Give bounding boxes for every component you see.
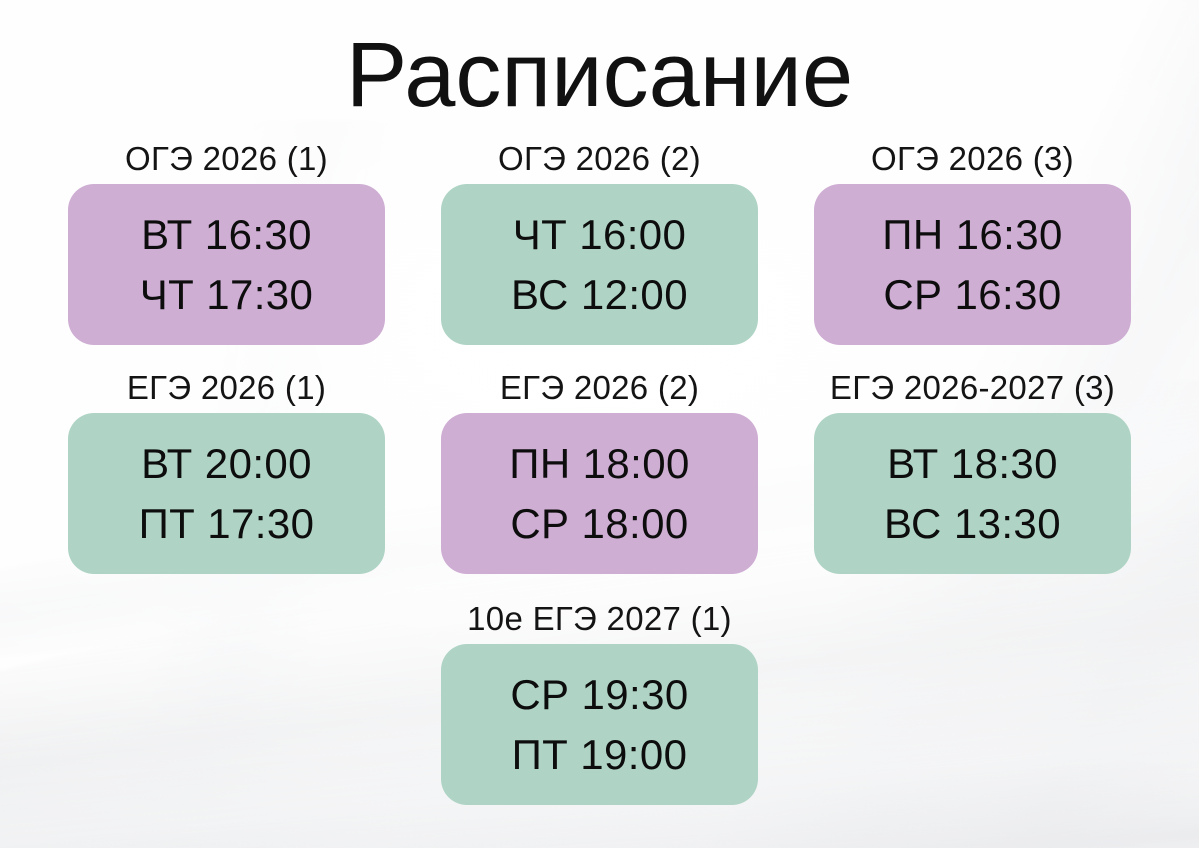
schedule-slot: СР 16:30: [883, 267, 1061, 322]
schedule-slot: СР 18:00: [510, 496, 688, 551]
schedule-card: СР 19:30 ПТ 19:00: [441, 644, 758, 805]
schedule-group-oge-2026-3: ОГЭ 2026 (3) ПН 16:30 СР 16:30: [786, 140, 1159, 345]
group-label: ОГЭ 2026 (3): [871, 140, 1074, 178]
group-label: ЕГЭ 2026-2027 (3): [830, 369, 1115, 407]
schedule-card: ВТ 18:30 ВС 13:30: [814, 413, 1131, 574]
schedule-row-3: 10е ЕГЭ 2027 (1) СР 19:30 ПТ 19:00: [0, 600, 1199, 805]
schedule-group-ege-2026-1: ЕГЭ 2026 (1) ВТ 20:00 ПТ 17:30: [40, 369, 413, 574]
group-label: ЕГЭ 2026 (2): [500, 369, 699, 407]
schedule-group-oge-2026-1: ОГЭ 2026 (1) ВТ 16:30 ЧТ 17:30: [40, 140, 413, 345]
schedule-slot: ВТ 20:00: [141, 436, 312, 491]
schedule-slot: ВТ 16:30: [141, 207, 312, 262]
schedule-group-10e-ege-2027-1: 10е ЕГЭ 2027 (1) СР 19:30 ПТ 19:00: [413, 600, 786, 805]
schedule-slot: ПТ 17:30: [139, 496, 315, 551]
schedule-slot: ВС 13:30: [884, 496, 1061, 551]
schedule-card: ВТ 20:00 ПТ 17:30: [68, 413, 385, 574]
group-label: ЕГЭ 2026 (1): [127, 369, 326, 407]
schedule-card: ЧТ 16:00 ВС 12:00: [441, 184, 758, 345]
group-label: 10е ЕГЭ 2027 (1): [467, 600, 732, 638]
schedule-group-ege-2026-2: ЕГЭ 2026 (2) ПН 18:00 СР 18:00: [413, 369, 786, 574]
schedule-slot: ПТ 19:00: [512, 727, 688, 782]
schedule-slide: Расписание ОГЭ 2026 (1) ВТ 16:30 ЧТ 17:3…: [0, 0, 1199, 848]
schedule-group-ege-2026-2027-3: ЕГЭ 2026-2027 (3) ВТ 18:30 ВС 13:30: [786, 369, 1159, 574]
slide-content: Расписание ОГЭ 2026 (1) ВТ 16:30 ЧТ 17:3…: [0, 0, 1199, 848]
schedule-slot: ПН 16:30: [882, 207, 1063, 262]
group-label: ОГЭ 2026 (2): [498, 140, 701, 178]
schedule-card: ПН 18:00 СР 18:00: [441, 413, 758, 574]
schedule-card: ПН 16:30 СР 16:30: [814, 184, 1131, 345]
schedule-slot: ЧТ 16:00: [513, 207, 687, 262]
schedule-slot: СР 19:30: [510, 667, 688, 722]
schedule-row-1: ОГЭ 2026 (1) ВТ 16:30 ЧТ 17:30 ОГЭ 2026 …: [0, 140, 1199, 345]
schedule-slot: ЧТ 17:30: [140, 267, 314, 322]
schedule-group-oge-2026-2: ОГЭ 2026 (2) ЧТ 16:00 ВС 12:00: [413, 140, 786, 345]
schedule-slot: ПН 18:00: [509, 436, 690, 491]
schedule-card: ВТ 16:30 ЧТ 17:30: [68, 184, 385, 345]
page-title: Расписание: [0, 24, 1199, 127]
schedule-slot: ВС 12:00: [511, 267, 688, 322]
schedule-grid: ОГЭ 2026 (1) ВТ 16:30 ЧТ 17:30 ОГЭ 2026 …: [0, 140, 1199, 805]
group-label: ОГЭ 2026 (1): [125, 140, 328, 178]
schedule-row-2: ЕГЭ 2026 (1) ВТ 20:00 ПТ 17:30 ЕГЭ 2026 …: [0, 369, 1199, 574]
schedule-slot: ВТ 18:30: [887, 436, 1058, 491]
